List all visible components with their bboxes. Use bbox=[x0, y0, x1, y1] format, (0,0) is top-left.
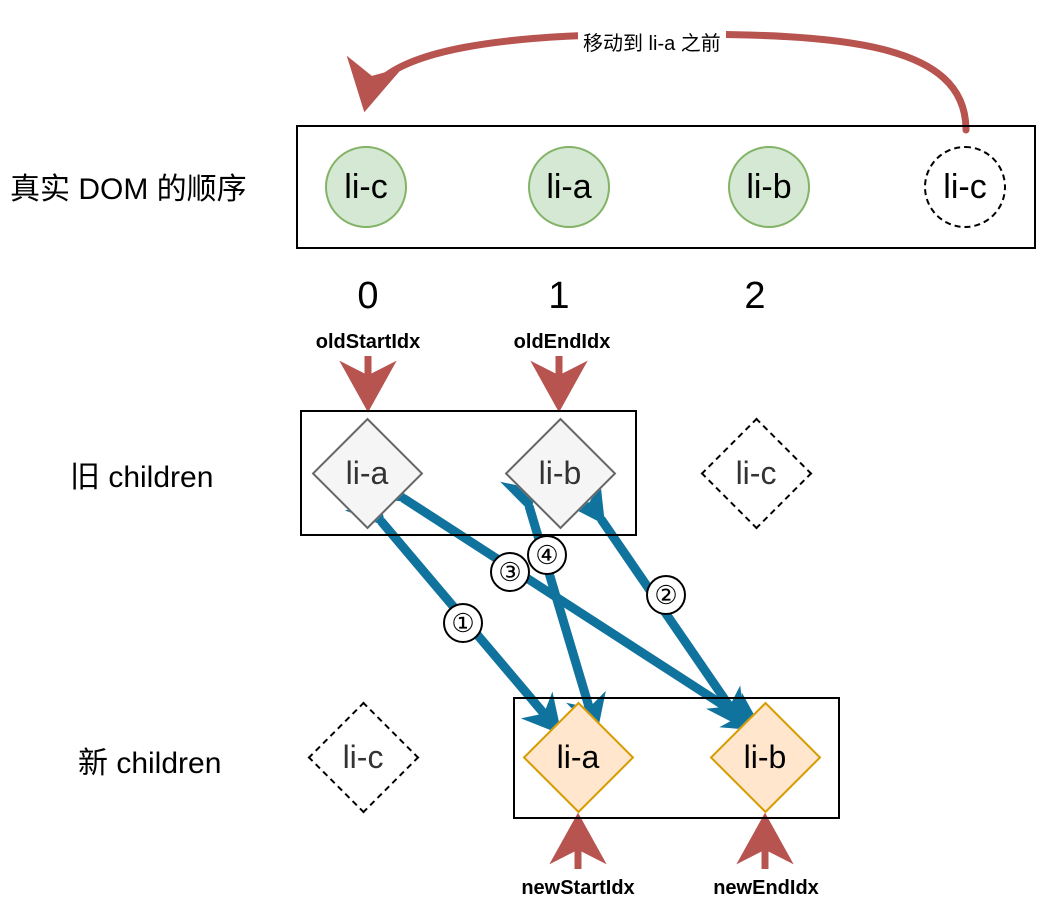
dom-node-1[interactable]: li-a bbox=[528, 146, 610, 228]
old-node-li-b-label: li-b bbox=[539, 457, 582, 489]
row-label-old-children: 旧 children bbox=[70, 452, 213, 496]
new-node-li-a-label: li-a bbox=[557, 741, 600, 773]
new-node-li-b-label: li-b bbox=[744, 741, 787, 773]
pointer-label-newstartidx: newStartIdx bbox=[521, 877, 634, 900]
old-node-li-a-label: li-a bbox=[346, 457, 389, 489]
old-node-li-c-ghost[interactable]: li-c bbox=[700, 417, 812, 529]
old-node-li-c-label: li-c bbox=[736, 457, 777, 489]
pointer-label-oldstartidx: oldStartIdx bbox=[316, 331, 420, 354]
compare-arrow-2 bbox=[601, 519, 741, 723]
dom-node-1-label: li-a bbox=[546, 168, 591, 207]
pointer-label-oldendidx: oldEndIdx bbox=[514, 331, 611, 354]
row-label-real-dom: 真实 DOM 的顺序 bbox=[10, 164, 247, 208]
index-digit-2: 2 bbox=[725, 275, 785, 318]
step-badge-1: ① bbox=[443, 603, 483, 643]
dom-node-0-label: li-c bbox=[344, 168, 387, 207]
dom-node-2[interactable]: li-b bbox=[728, 146, 810, 228]
dom-node-0[interactable]: li-c bbox=[325, 146, 407, 228]
row-label-new-children: 新 children bbox=[78, 738, 221, 782]
new-node-li-a[interactable]: li-a bbox=[522, 701, 634, 813]
dom-node-2-label: li-b bbox=[746, 168, 791, 207]
dom-node-3-ghost[interactable]: li-c bbox=[924, 146, 1006, 228]
step-badge-4: ④ bbox=[527, 535, 567, 575]
old-node-li-a[interactable]: li-a bbox=[311, 417, 423, 529]
new-node-li-c-ghost[interactable]: li-c bbox=[307, 701, 419, 813]
diagram-canvas: 真实 DOM 的顺序 li-c li-a li-b li-c 移动到 li-a … bbox=[0, 0, 1056, 922]
pointer-label-newendidx: newEndIdx bbox=[713, 877, 819, 900]
old-node-li-b[interactable]: li-b bbox=[504, 417, 616, 529]
step-badge-2: ② bbox=[646, 575, 686, 615]
index-digit-0: 0 bbox=[338, 275, 398, 318]
index-digit-1: 1 bbox=[529, 275, 589, 318]
move-arrow-caption: 移动到 li-a 之前 bbox=[578, 26, 726, 57]
new-node-li-c-label: li-c bbox=[343, 741, 384, 773]
dom-node-3-label: li-c bbox=[943, 168, 986, 207]
new-node-li-b[interactable]: li-b bbox=[709, 701, 821, 813]
step-badge-3: ③ bbox=[490, 552, 530, 592]
